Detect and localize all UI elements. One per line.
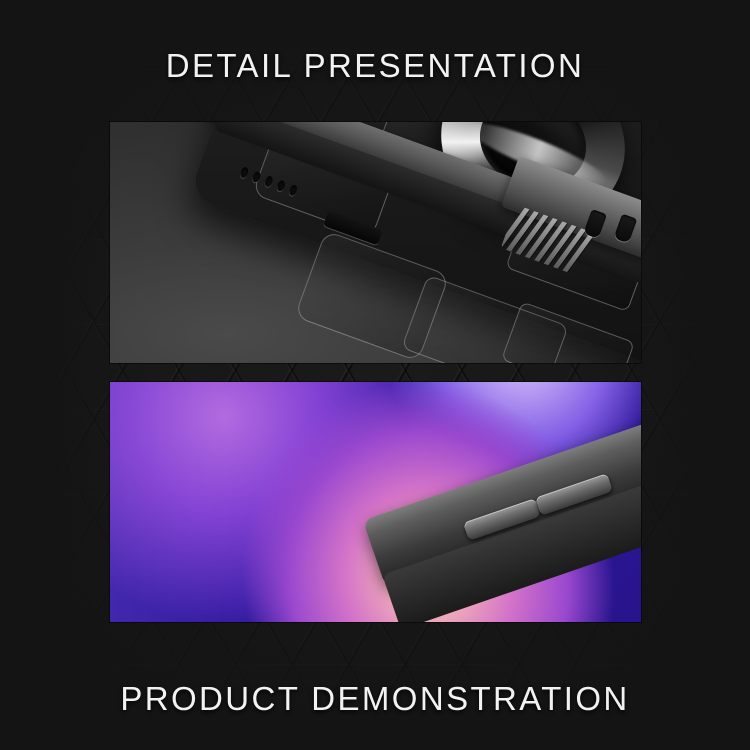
- detail-image-panel-top: Precise hole location 1: 1 REAL MACHINE …: [110, 122, 641, 363]
- product-detail-page: DETAIL PRESENTATION: [0, 0, 750, 750]
- page-title-top: DETAIL PRESENTATION: [0, 47, 750, 85]
- background-vignette: [0, 0, 750, 750]
- detail-image-panel-bottom: Independent key ALL INCLUSIVE TOUCH: [110, 382, 641, 622]
- page-title-bottom: PRODUCT DEMONSTRATION: [0, 680, 750, 718]
